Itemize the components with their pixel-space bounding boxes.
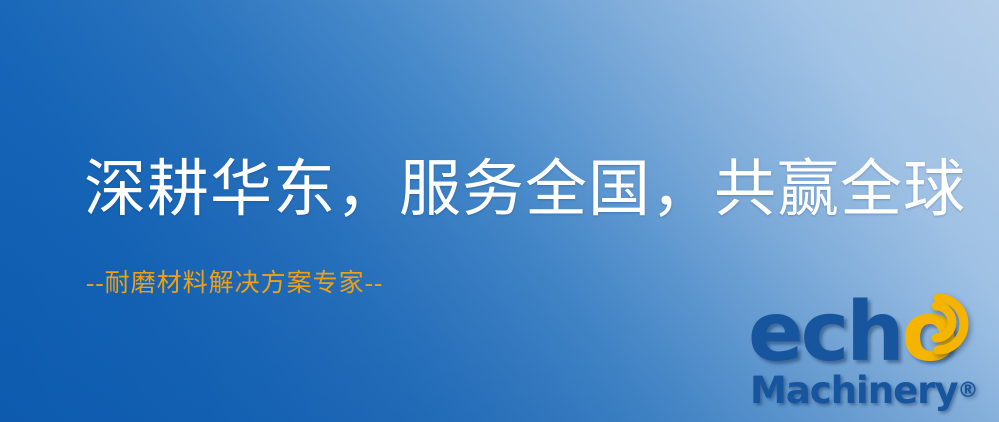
signal-waves-icon <box>926 292 998 358</box>
logo-tagline-text: Machinery <box>750 369 958 412</box>
logo-wordmark: echo <box>748 290 955 376</box>
logo-tagline: Machinery® <box>750 370 979 411</box>
banner-subtitle: --耐磨材料解决方案专家-- <box>86 268 383 300</box>
registered-trademark-icon: ® <box>958 378 979 402</box>
echo-machinery-logo: echo Machinery® <box>748 296 996 420</box>
logo-wordmark-text: ech <box>748 285 902 380</box>
banner-headline: 深耕华东，服务全国，共赢全球 <box>84 155 966 225</box>
hero-banner: 深耕华东，服务全国，共赢全球 --耐磨材料解决方案专家-- echo Machi… <box>0 0 999 422</box>
